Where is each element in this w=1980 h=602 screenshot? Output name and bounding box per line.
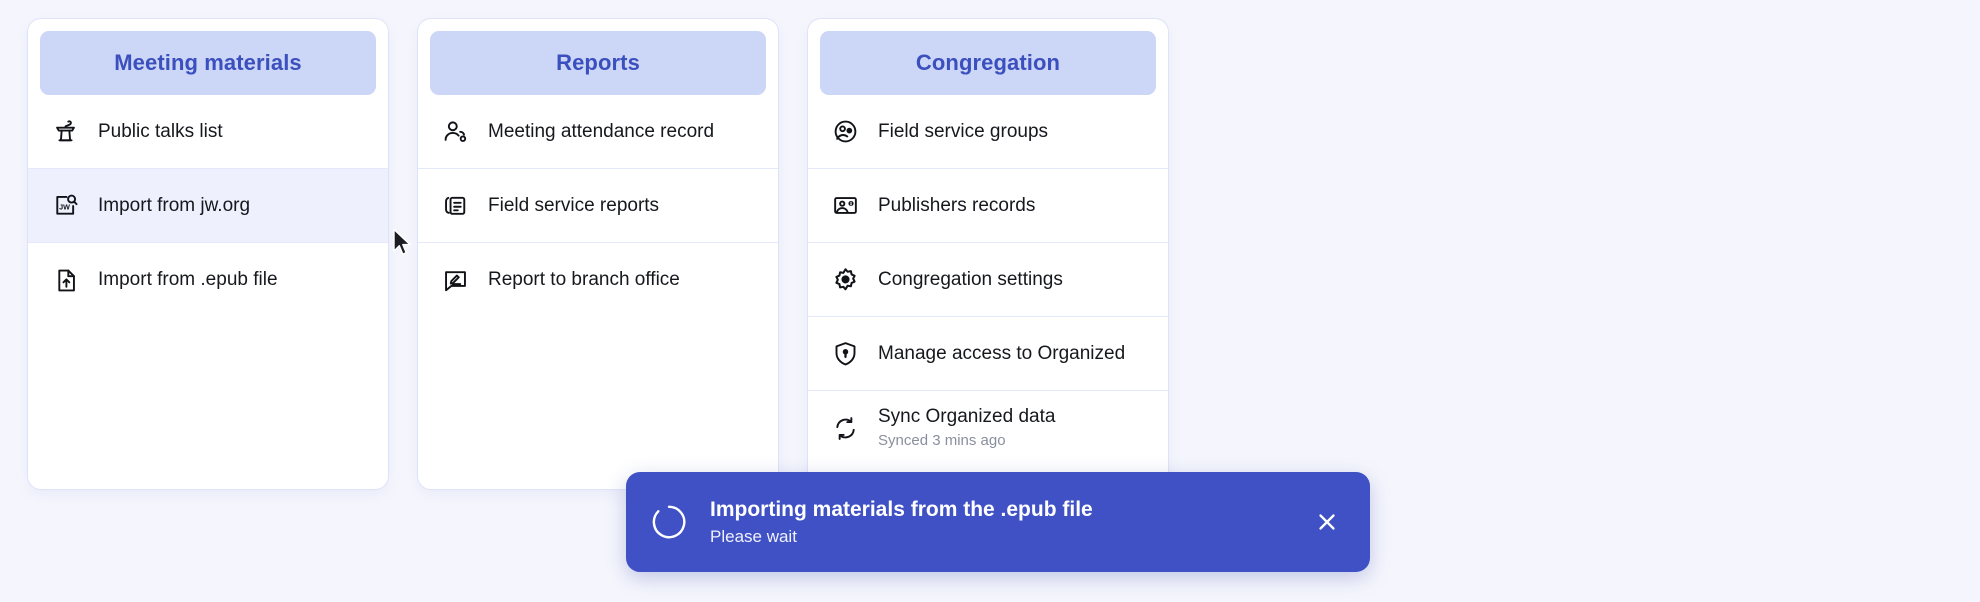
list-item-public-talks-list[interactable]: Public talks list (28, 95, 388, 169)
shield-lock-icon (830, 339, 860, 369)
list-item-sync-organized-data[interactable]: Sync Organized data Synced 3 mins ago (808, 391, 1168, 465)
list-item-congregation-settings[interactable]: Congregation settings (808, 243, 1168, 317)
people-icon (440, 117, 470, 147)
list-item-text: Congregation settings (878, 268, 1063, 292)
list-item-text: Public talks list (98, 120, 223, 144)
list-item-text: Sync Organized data Synced 3 mins ago (878, 405, 1055, 450)
list-item-text: Publishers records (878, 194, 1035, 218)
card-header-reports: Reports (430, 31, 766, 95)
list-item-label: Congregation settings (878, 268, 1063, 292)
list-item-field-service-reports[interactable]: Field service reports (418, 169, 778, 243)
card-meeting-materials: Meeting materials Public talks list (27, 18, 389, 490)
list-item-text: Meeting attendance record (488, 120, 714, 144)
list-item-label: Meeting attendance record (488, 120, 714, 144)
card-header-congregation: Congregation (820, 31, 1156, 95)
card-list-meeting-materials: Public talks list JW Import from jw.org (28, 95, 388, 489)
card-title: Congregation (916, 50, 1060, 76)
id-card-icon (830, 191, 860, 221)
list-item-text: Field service reports (488, 194, 659, 218)
list-item-label: Import from jw.org (98, 194, 250, 218)
card-board: Meeting materials Public talks list (27, 18, 1169, 490)
toast-body: Importing materials from the .epub file … (710, 498, 1290, 547)
list-item-text: Field service groups (878, 120, 1048, 144)
list-item-label: Field service reports (488, 194, 659, 218)
list-item-label: Field service groups (878, 120, 1048, 144)
list-item-label: Public talks list (98, 120, 223, 144)
list-item-import-from-jw-org[interactable]: JW Import from jw.org (28, 169, 388, 243)
documents-icon (440, 191, 470, 221)
list-item-label: Manage access to Organized (878, 342, 1125, 366)
list-item-label: Publishers records (878, 194, 1035, 218)
list-item-publishers-records[interactable]: Publishers records (808, 169, 1168, 243)
loading-spinner-icon (648, 501, 690, 543)
sync-icon (830, 413, 860, 443)
card-header-meeting-materials: Meeting materials (40, 31, 376, 95)
card-list-congregation: Field service groups Publishers records (808, 95, 1168, 489)
message-edit-icon (440, 265, 470, 295)
jw-search-icon: JW (50, 191, 80, 221)
card-reports: Reports Meeting attendance record (417, 18, 779, 490)
card-list-reports: Meeting attendance record Field service … (418, 95, 778, 489)
import-progress-toast: Importing materials from the .epub file … (626, 472, 1370, 572)
list-item-import-from-epub-file[interactable]: Import from .epub file (28, 243, 388, 317)
toast-title: Importing materials from the .epub file (710, 498, 1290, 522)
toast-subtitle: Please wait (710, 527, 1290, 547)
card-title: Meeting materials (114, 50, 302, 76)
list-item-label: Sync Organized data (878, 405, 1055, 429)
list-item-text: Import from .epub file (98, 268, 278, 292)
list-item-sublabel: Synced 3 mins ago (878, 431, 1055, 451)
gear-icon (830, 265, 860, 295)
list-item-label: Import from .epub file (98, 268, 278, 292)
list-item-field-service-groups[interactable]: Field service groups (808, 95, 1168, 169)
file-upload-icon (50, 265, 80, 295)
list-item-report-to-branch-office[interactable]: Report to branch office (418, 243, 778, 317)
list-item-text: Report to branch office (488, 268, 680, 292)
list-item-text: Import from jw.org (98, 194, 250, 218)
list-item-manage-access-to-organized[interactable]: Manage access to Organized (808, 317, 1168, 391)
svg-text:JW: JW (59, 203, 70, 212)
list-item-label: Report to branch office (488, 268, 680, 292)
lectern-icon (50, 117, 80, 147)
card-title: Reports (556, 50, 640, 76)
group-avatar-icon (830, 117, 860, 147)
close-icon[interactable] (1310, 505, 1344, 539)
list-item-meeting-attendance-record[interactable]: Meeting attendance record (418, 95, 778, 169)
card-congregation: Congregation Field service groups (807, 18, 1169, 490)
list-item-text: Manage access to Organized (878, 342, 1125, 366)
